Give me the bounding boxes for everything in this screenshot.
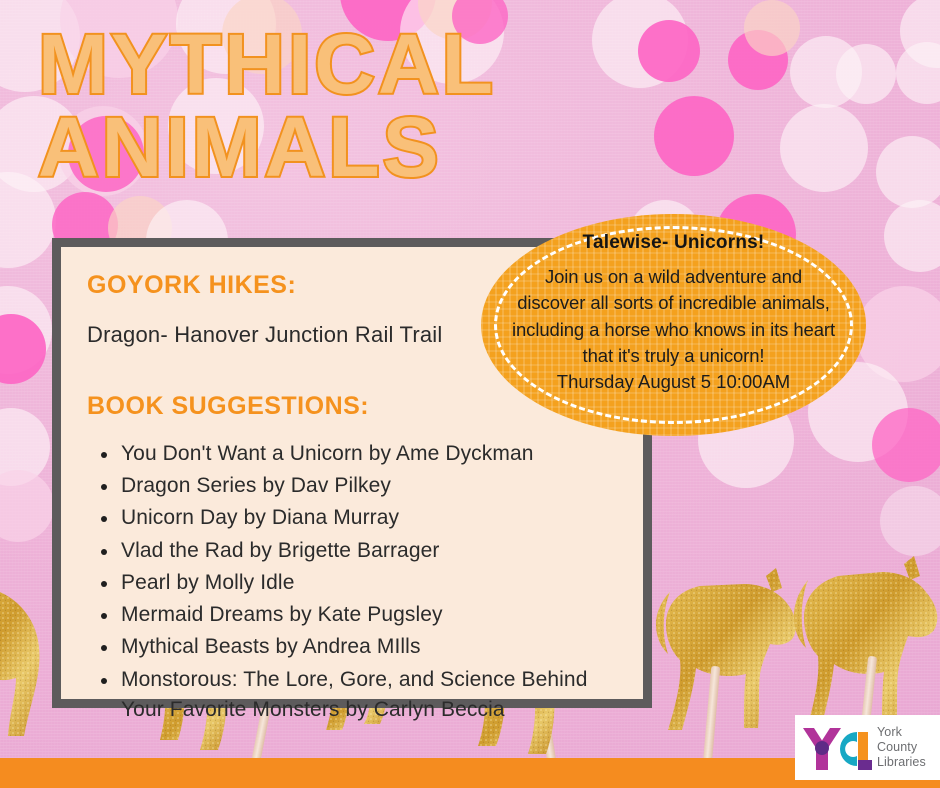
callout-body: Join us on a wild adventure and discover… bbox=[511, 264, 836, 369]
list-item: You Don't Want a Unicorn by Ame Dyckman bbox=[121, 439, 617, 469]
event-callout-oval: Talewise- Unicorns! Join us on a wild ad… bbox=[481, 214, 866, 436]
list-item: Pearl by Molly Idle bbox=[121, 568, 617, 598]
callout-title: Talewise- Unicorns! bbox=[511, 232, 836, 254]
poster-canvas: MYTHICAL ANIMALS bbox=[0, 0, 940, 788]
oval-content: Talewise- Unicorns! Join us on a wild ad… bbox=[511, 232, 836, 395]
list-item: Unicorn Day by Diana Murray bbox=[121, 503, 617, 533]
ycl-monogram-icon bbox=[801, 722, 873, 774]
logo-line-3: Libraries bbox=[877, 755, 926, 770]
list-item: Dragon Series by Dav Pilkey bbox=[121, 471, 617, 501]
callout-date: Thursday August 5 10:00AM bbox=[511, 369, 836, 395]
logo-line-1: York bbox=[877, 725, 926, 740]
york-county-libraries-logo[interactable]: York County Libraries bbox=[795, 715, 940, 780]
logo-wordmark: York County Libraries bbox=[877, 725, 926, 769]
logo-line-2: County bbox=[877, 740, 926, 755]
book-suggestions-list: You Don't Want a Unicorn by Ame Dyckman … bbox=[87, 439, 617, 725]
list-item: Monstorous: The Lore, Gore, and Science … bbox=[121, 665, 617, 725]
list-item: Vlad the Rad by Brigette Barrager bbox=[121, 536, 617, 566]
list-item: Mythical Beasts by Andrea MIlls bbox=[121, 632, 617, 662]
list-item: Mermaid Dreams by Kate Pugsley bbox=[121, 600, 617, 630]
